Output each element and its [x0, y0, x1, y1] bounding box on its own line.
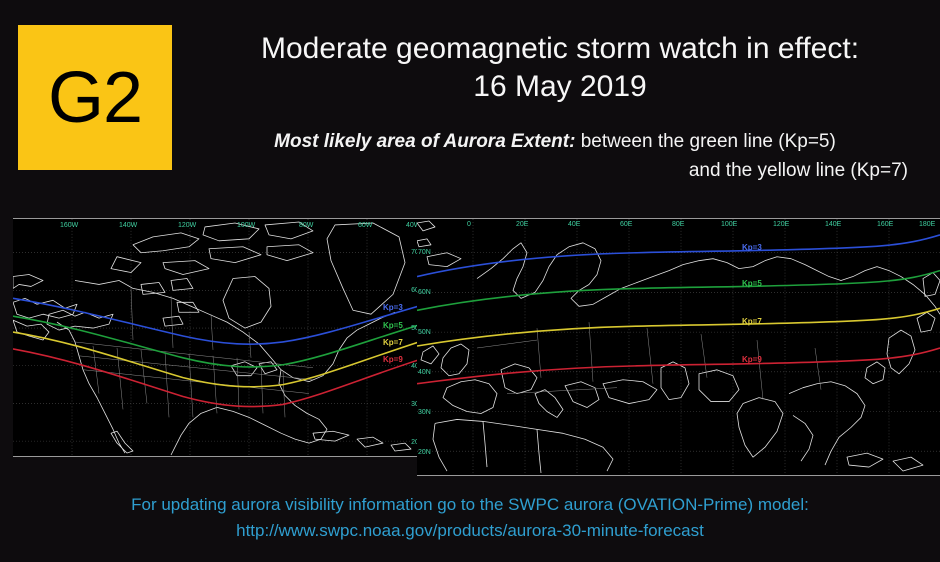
lon-label-60e: 60E	[620, 221, 632, 228]
kp7-label: Kp=7	[383, 338, 403, 347]
lat-label-60n: 60N	[418, 289, 431, 296]
lon-label-120w: 120W	[178, 222, 196, 229]
lon-label-160w: 160W	[60, 222, 78, 229]
alert-header: G2 Moderate geomagnetic storm watch in e…	[0, 0, 940, 212]
north-america-map-panel[interactable]: 160W 140W 120W 100W 80W 60W 40W 70N 60N …	[13, 218, 425, 457]
lon-label-120e: 120E	[773, 221, 789, 228]
coastline-outlines	[417, 221, 940, 473]
kp-boundary-curves	[13, 298, 425, 406]
lon-label-180e: 180E	[919, 221, 935, 228]
political-borders	[477, 322, 821, 399]
kp5-label: Kp=5	[383, 321, 403, 330]
kp9-curve	[417, 348, 940, 384]
kp3-label: Kp=3	[383, 303, 403, 312]
graticule-lines	[13, 219, 425, 456]
lon-label-60w: 60W	[358, 222, 372, 229]
storm-scale-badge: G2	[18, 25, 172, 170]
storm-scale-badge-label: G2	[48, 62, 142, 134]
lat-label-70n: 70N	[418, 249, 431, 256]
kp3-curve	[417, 235, 940, 277]
eurasia-map-panel[interactable]: 0 20E 40E 60E 80E 100E 120E 140E 160E 18…	[417, 218, 940, 476]
kp9-label: Kp=9	[383, 355, 403, 364]
lon-label-40e: 40E	[568, 221, 580, 228]
coastline-outlines	[13, 222, 411, 455]
aurora-extent-line-1: Most likely area of Aurora Extent: betwe…	[190, 127, 920, 156]
lon-label-140w: 140W	[119, 222, 137, 229]
lon-label-100e: 100E	[721, 221, 737, 228]
footer-note: For updating aurora visibility informati…	[0, 492, 940, 543]
aurora-extent-yellow-note: and the yellow line (Kp=7)	[190, 156, 920, 185]
lon-label-80w: 80W	[299, 222, 313, 229]
footer-line-1: For updating aurora visibility informati…	[0, 492, 940, 518]
kp-boundary-curves	[417, 235, 940, 384]
kp7-label: Kp=7	[742, 317, 762, 326]
lat-label-40n: 40N	[418, 369, 431, 376]
graticule-lines	[417, 219, 940, 475]
kp5-curve	[417, 271, 940, 311]
lat-label-30n: 30N	[418, 409, 431, 416]
footer-url[interactable]: http://www.swpc.noaa.gov/products/aurora…	[0, 518, 940, 544]
lat-label-20n: 20N	[418, 449, 431, 456]
eurasia-map-graphic	[417, 219, 940, 475]
kp7-curve	[417, 308, 940, 346]
kp9-label: Kp=9	[742, 355, 762, 364]
kp3-label: Kp=3	[742, 243, 762, 252]
north-america-map-graphic	[13, 219, 425, 456]
headline-line-2: 16 May 2019	[190, 68, 930, 106]
lon-label-100w: 100W	[237, 222, 255, 229]
aurora-extent-green-note: between the green line (Kp=5)	[581, 131, 836, 152]
aurora-extent-emphasis: Most likely area of Aurora Extent:	[274, 131, 575, 152]
lon-label-140e: 140E	[825, 221, 841, 228]
aurora-extent-note: Most likely area of Aurora Extent: betwe…	[190, 127, 920, 186]
page-title: Moderate geomagnetic storm watch in effe…	[190, 30, 930, 106]
lon-label-20e: 20E	[516, 221, 528, 228]
lon-label-0: 0	[467, 221, 471, 228]
headline-line-1: Moderate geomagnetic storm watch in effe…	[190, 30, 930, 68]
aurora-forecast-maps: 160W 140W 120W 100W 80W 60W 40W 70N 60N …	[0, 212, 940, 484]
lat-label-50n: 50N	[418, 329, 431, 336]
lon-label-80e: 80E	[672, 221, 684, 228]
lon-label-160e: 160E	[877, 221, 893, 228]
kp5-label: Kp=5	[742, 279, 762, 288]
